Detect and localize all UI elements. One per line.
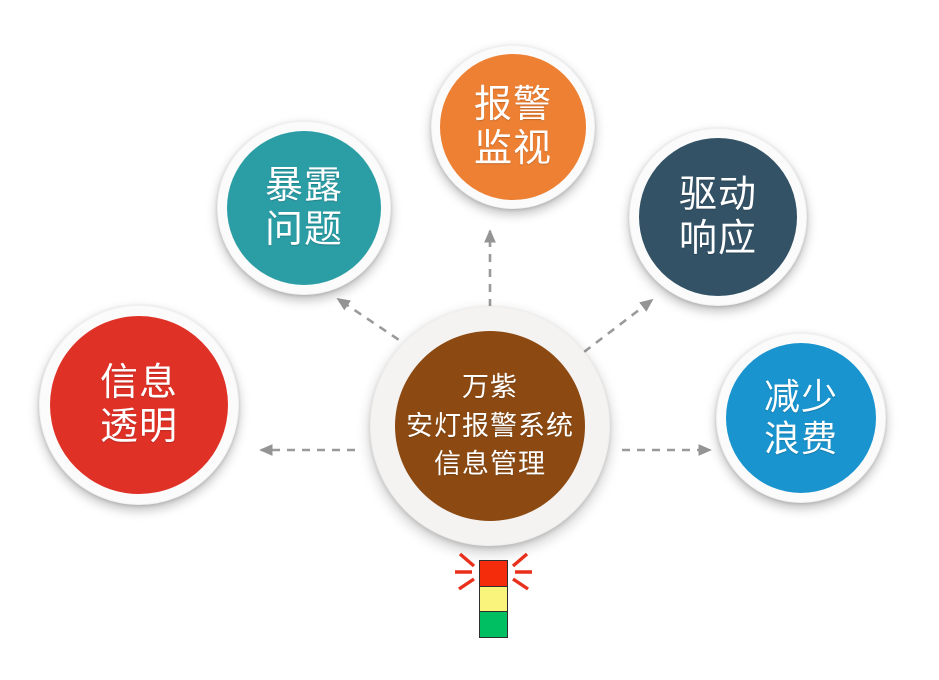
green-lamp (479, 611, 508, 638)
alarm-monitor-label: 报警 监视 (474, 83, 552, 171)
hub-line-1: 万紫 (406, 368, 574, 406)
alarm-monitor-line-1: 报警 (474, 83, 552, 127)
node-hub[interactable]: 万紫 安灯报警系统 信息管理 (370, 306, 610, 546)
hub-line-3: 信息管理 (406, 445, 574, 483)
ray-lower-left (459, 579, 474, 589)
diagram-canvas: 报警 监视 暴露 问题 驱动 响应 信息 透明 减少 浪费 (0, 0, 939, 680)
hub-line-2: 安灯报警系统 (406, 407, 574, 445)
node-expose-problems[interactable]: 暴露 问题 (217, 121, 391, 295)
info-transparent-line-2: 透明 (100, 405, 178, 449)
reduce-waste-line-2: 浪费 (764, 418, 838, 460)
node-alarm-monitor[interactable]: 报警 监视 (431, 45, 595, 209)
info-transparent-line-1: 信息 (100, 361, 178, 405)
alarm-monitor-line-2: 监视 (474, 127, 552, 171)
red-lamp (479, 560, 508, 587)
expose-problems-line-1: 暴露 (265, 164, 343, 208)
andon-light-tower-icon (452, 548, 532, 648)
drive-response-line-1: 驱动 (679, 173, 757, 217)
drive-response-line-2: 响应 (679, 217, 757, 261)
ray-lower-right (513, 579, 528, 589)
info-transparent-label: 信息 透明 (100, 361, 178, 449)
ray-upper-right (513, 554, 527, 566)
expose-problems-line-2: 问题 (265, 208, 343, 252)
yellow-lamp (479, 586, 508, 613)
connector-hub-to-expose-problems (338, 299, 411, 348)
connector-hub-to-drive-response (584, 300, 652, 352)
expose-problems-label: 暴露 问题 (265, 164, 343, 252)
reduce-waste-line-1: 减少 (764, 376, 838, 418)
node-drive-response[interactable]: 驱动 响应 (629, 128, 807, 306)
drive-response-label: 驱动 响应 (679, 173, 757, 261)
ray-upper-left (460, 554, 474, 566)
andon-lamp-stack (479, 560, 508, 641)
reduce-waste-label: 减少 浪费 (764, 376, 838, 460)
node-reduce-waste[interactable]: 减少 浪费 (716, 333, 886, 503)
node-info-transparent[interactable]: 信息 透明 (39, 305, 239, 505)
hub-label: 万紫 安灯报警系统 信息管理 (406, 368, 574, 483)
